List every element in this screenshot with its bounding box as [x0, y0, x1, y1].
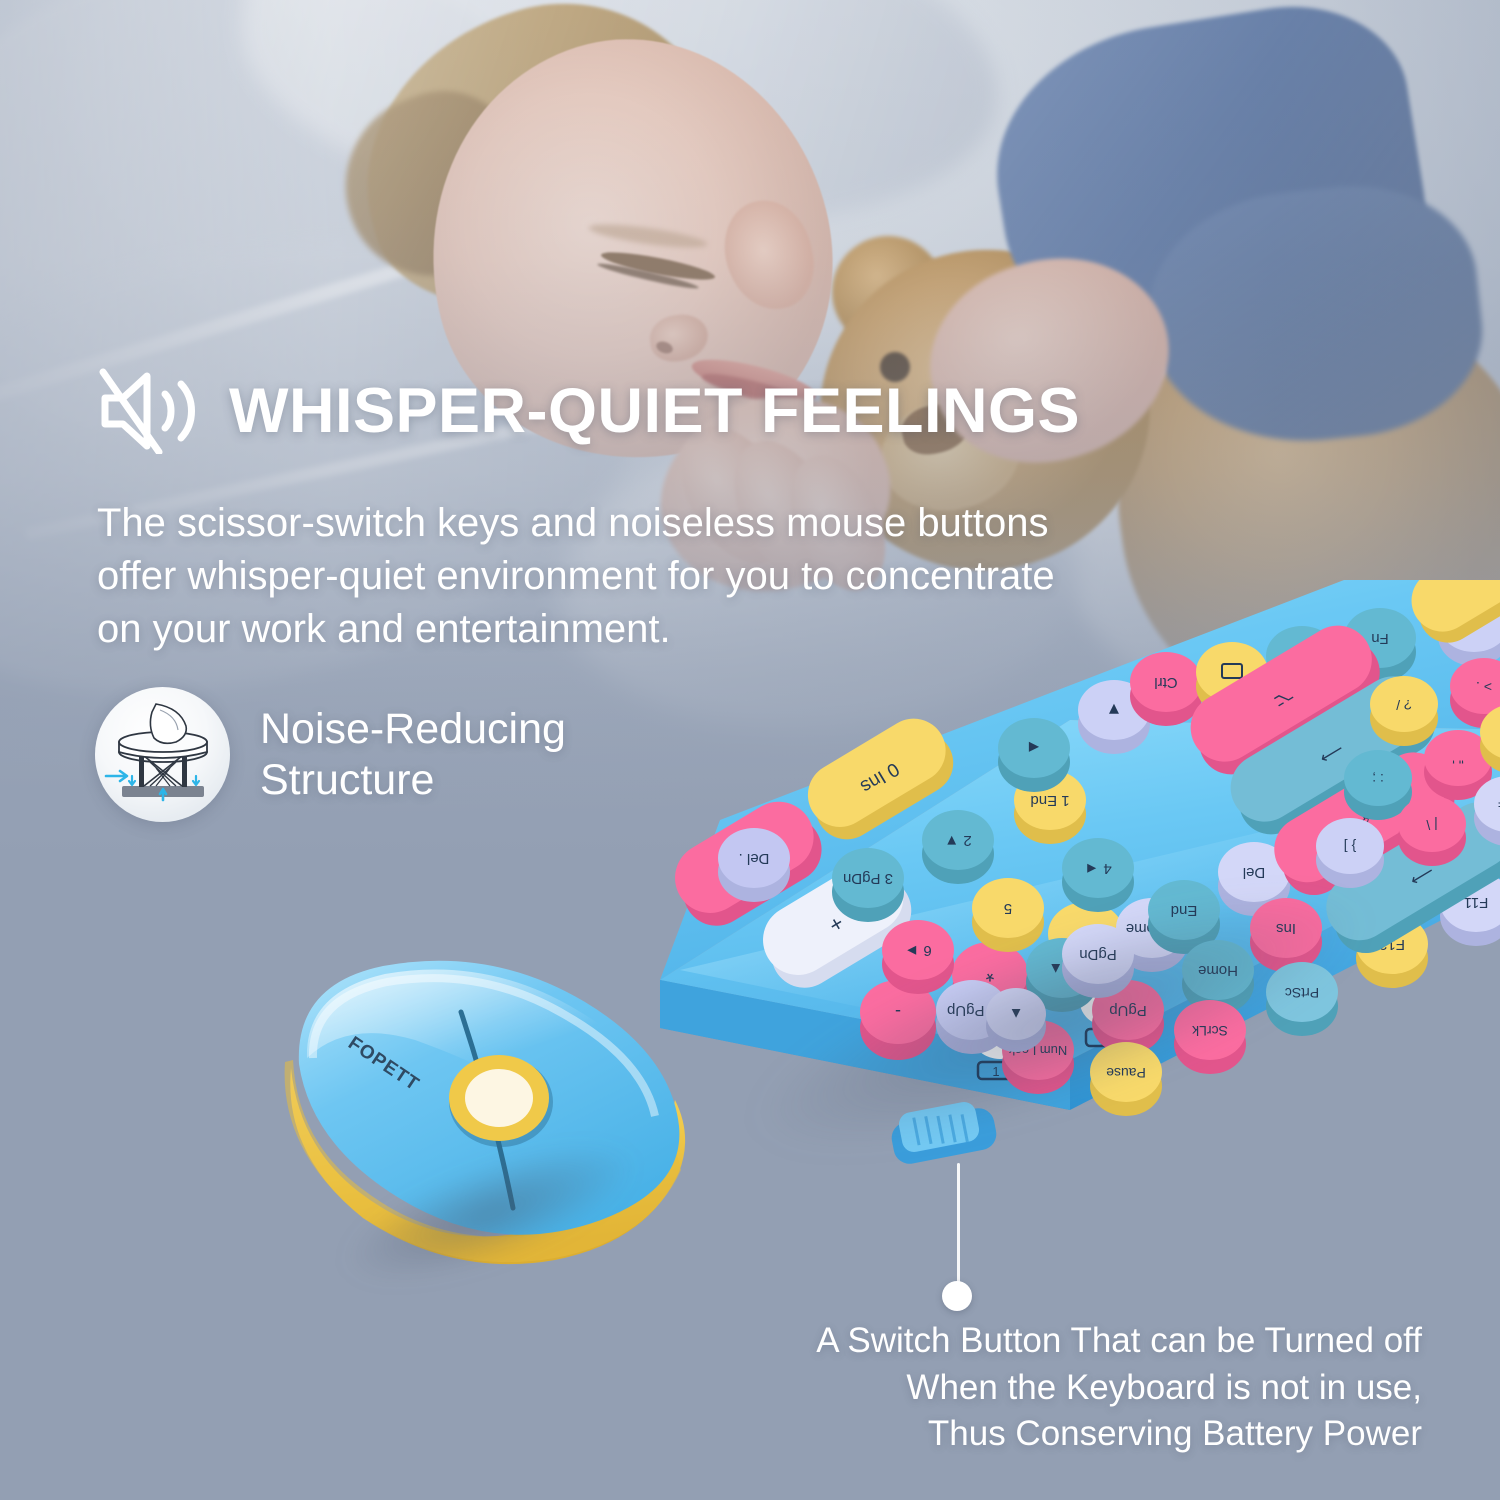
svg-text:: ;: : ; [1372, 771, 1384, 787]
feature-badge [95, 687, 230, 822]
callout-line-3: Thus Conserving Battery Power [662, 1411, 1422, 1458]
body-copy-line-1: The scissor-switch keys and noiseless mo… [97, 497, 1167, 550]
svg-text:> .: > . [1476, 679, 1492, 695]
wireless-mouse: FOPETT [255, 940, 735, 1290]
product-feature-banner: WHISPER-QUIET FEELINGS The scissor-switc… [0, 0, 1500, 1500]
headline-title: WHISPER-QUIET FEELINGS [229, 380, 1080, 443]
feature-label-line-2: Structure [260, 755, 566, 806]
scissor-switch-structure-icon [104, 696, 222, 814]
key-arrow-left: ◄ [998, 718, 1070, 792]
svg-text:3 PgDn: 3 PgDn [843, 870, 893, 887]
svg-text:◄: ◄ [1026, 738, 1043, 757]
svg-text:Fn: Fn [1371, 630, 1389, 647]
svg-text:5: 5 [1004, 900, 1012, 917]
mute-speaker-icon [97, 368, 203, 454]
callout-line-2: When the Keyboard is not in use, [662, 1365, 1422, 1412]
key-3: 3 PgDn [832, 848, 904, 922]
feature-label-line-1: Noise-Reducing [260, 704, 566, 755]
svg-text:2 ▼: 2 ▼ [944, 832, 971, 849]
svg-text:1 End: 1 End [1030, 792, 1069, 809]
callout-caption: A Switch Button That can be Turned off W… [662, 1318, 1422, 1458]
key-ctrl: Ctrl [1130, 652, 1202, 726]
callout-line-1: A Switch Button That can be Turned off [662, 1318, 1422, 1365]
headline-row: WHISPER-QUIET FEELINGS [97, 368, 1080, 454]
feature-row: Noise-Reducing Structure [95, 687, 566, 822]
key-2: 2 ▼ [922, 810, 994, 884]
svg-text:Del .: Del . [739, 850, 770, 867]
wireless-keyboard: 1 A L Enter [600, 580, 1500, 1180]
svg-text:▼: ▼ [1106, 700, 1123, 719]
svg-text:" ': " ' [1452, 751, 1464, 767]
svg-text:? /: ? / [1396, 697, 1412, 713]
callout-leader-line [957, 1163, 960, 1288]
svg-text:4 ◄: 4 ◄ [1084, 860, 1111, 877]
feature-label: Noise-Reducing Structure [260, 704, 566, 805]
callout-leader-dot [942, 1281, 972, 1311]
svg-text:Ctrl: Ctrl [1154, 674, 1177, 691]
key-del: Del . [718, 828, 790, 902]
